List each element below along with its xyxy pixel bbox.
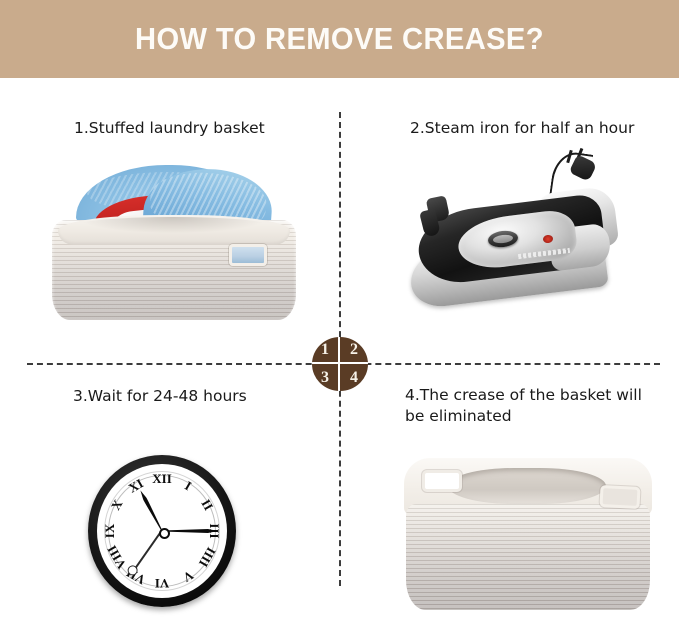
basket-inner-shadow [78,217,268,233]
step-number-badge: 1 2 3 4 [312,337,368,391]
empty-rope-basket-image [404,458,652,610]
badge-quadrant-4: 4 [340,364,368,391]
clock-face: XIIIIIIIIIIIIVVIVIIVIIIIXXXI [97,464,227,598]
basket-interior [448,468,606,504]
basket-handle-left [422,470,462,492]
steam-iron-image [400,152,630,320]
basket-handle-right [599,485,640,509]
badge-quadrant-1: 1 [312,337,340,364]
basket-handle-cutout [229,244,267,266]
wall-clock-image: XIIIIIIIIIIIIVVIVIIVIIIIXXXI [88,455,236,607]
badge-quadrant-2: 2 [340,337,368,364]
step-1-caption: 1.Stuffed laundry basket [74,118,265,139]
step-4-caption: 4.The crease of the basket will be elimi… [405,385,642,427]
step-3-caption: 3.Wait for 24-48 hours [73,386,247,407]
header-banner: HOW TO REMOVE CREASE? [0,0,679,78]
step-2-caption: 2.Steam iron for half an hour [410,118,634,139]
page-title: HOW TO REMOVE CREASE? [135,21,544,57]
basket-body [406,504,650,610]
clock-numeral: VI [155,575,169,591]
clock-numeral: XII [152,471,172,487]
clock-numeral: IX [102,524,118,538]
laundry-basket-with-clothes-image [52,165,296,320]
badge-quadrant-3: 3 [312,364,340,391]
clock-center-pin [159,528,170,539]
